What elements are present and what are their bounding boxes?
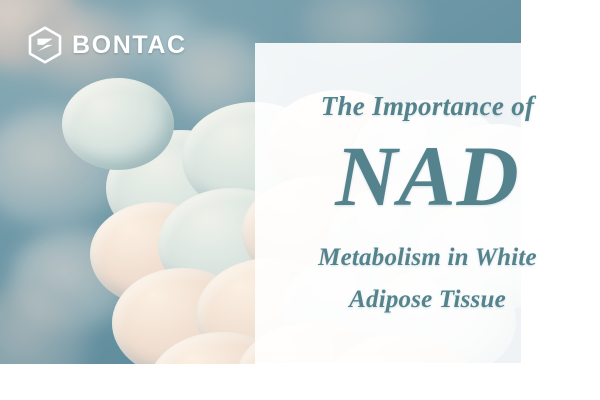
headline-featured-word: NAD <box>335 136 520 218</box>
brand-logo[interactable]: BONTAC <box>27 26 187 64</box>
headline-line-4: Adipose Tissue <box>349 286 506 314</box>
headline-line-1: The Importance of <box>321 91 535 122</box>
headline-line-3: Metabolism in White <box>318 244 537 272</box>
hexagon-wave-logo-icon <box>27 26 63 64</box>
brand-name: BONTAC <box>72 33 187 58</box>
article-banner: BONTAC The Importance of NAD Metabolism … <box>0 0 600 400</box>
headline-block: The Importance of NAD Metabolism in Whit… <box>255 43 600 363</box>
panel-bottom-fill <box>255 363 600 400</box>
